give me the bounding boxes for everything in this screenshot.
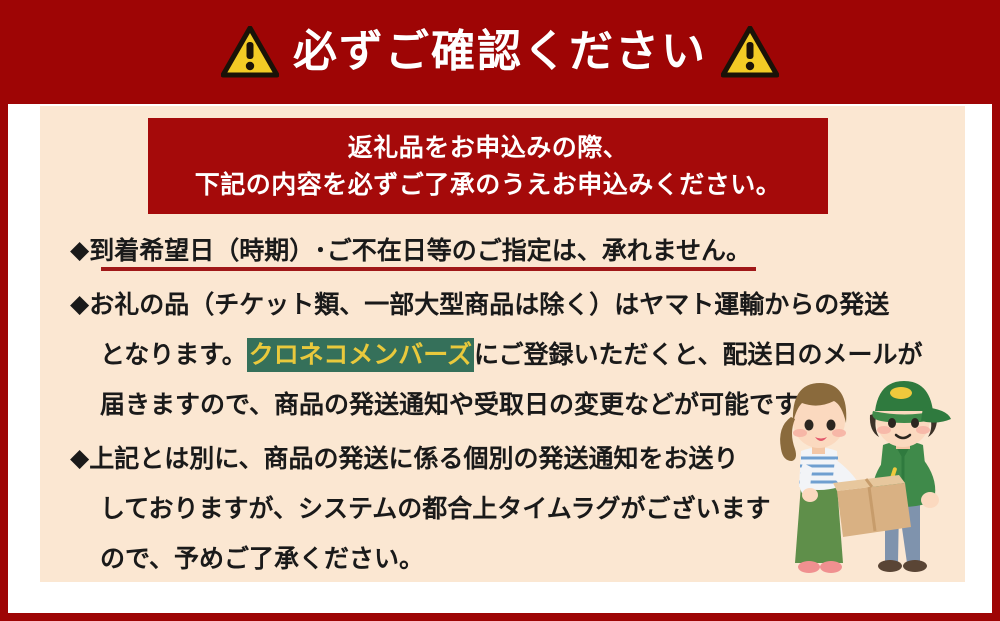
delivery-handover-illustration [765,367,965,582]
bullet-2-text-2: となります。 [100,340,247,369]
diamond-bullet-icon-1: ◆ [70,225,89,275]
notice-box: 返礼品をお申込みの際、 下記の内容を必ずご了承のうえお申込みください。 [148,118,828,214]
bullet-1-line-1: ◆到着希望日（時期）･ご不在日等のご指定は、承れません。 [70,226,950,276]
notice-line-2: 下記の内容を必ずご了承のうえお申込みください。 [195,166,782,204]
notice-line-1: 返礼品をお申込みの際、 [348,129,629,167]
bullet-2-text-3: 届きますので、商品の発送通知や受取日の変更などが可能です。 [100,390,822,419]
diamond-bullet-icon-2: ◆ [70,279,89,329]
red-underline [101,267,756,271]
bullet-2-text-1: お礼の品（チケット類、一部大型商品は除く）はヤマト運輸からの発送 [89,290,889,319]
bullet-2-text-2-after: にご登録いただくと、配送日のメールが [474,340,923,369]
warning-triangle-icon-left [221,26,279,78]
bullet-3-text-3: ので、予めご了承ください。 [100,544,424,573]
content-panel: 返礼品をお申込みの際、 下記の内容を必ずご了承のうえお申込みください。 ◆到着希… [40,106,965,582]
kuroneko-members-highlight: クロネコメンバーズ [247,338,474,372]
page-title: 必ずご確認ください [293,30,707,74]
flyer-page: 必ずご確認ください 返礼品をお申込みの際、 下記の内容を必ずご了承のうえお申込み… [0,0,1000,621]
header-banner: 必ずご確認ください [0,0,1000,104]
bullet-2-line-1: ◆お礼の品（チケット類、一部大型商品は除く）はヤマト運輸からの発送 [70,280,950,330]
bullet-3-text-2: しておりますが、システムの都合上タイムラグがございます [100,494,771,523]
bullet-1-text: 到着希望日（時期）･ご不在日等のご指定は、承れません。 [89,236,751,265]
bullet-3-text-1: 上記とは別に、商品の発送に係る個別の発送通知をお送り [89,444,738,473]
bullet-item-1: ◆到着希望日（時期）･ご不在日等のご指定は、承れません。 [70,226,950,276]
diamond-bullet-icon-3: ◆ [70,433,89,483]
warning-triangle-icon-right [721,26,779,78]
